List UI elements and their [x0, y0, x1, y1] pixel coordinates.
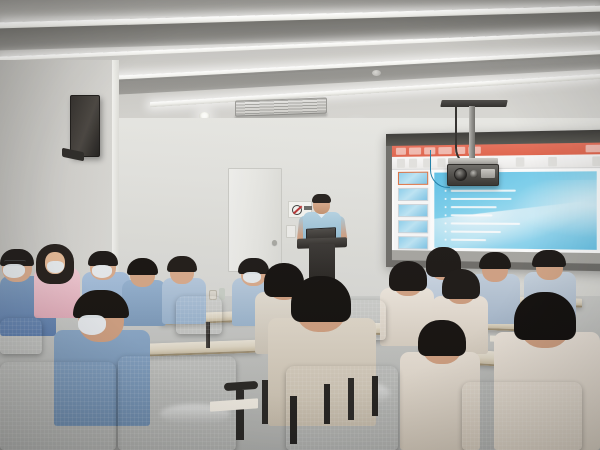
- attendee-mask-1: [3, 264, 25, 278]
- chair-front-1[interactable]: [0, 362, 116, 450]
- chair-front-3[interactable]: [286, 366, 398, 450]
- attendee-mask-13: [78, 315, 106, 335]
- toolbar-button-10[interactable]: [592, 156, 600, 166]
- sign-text-block: [304, 206, 312, 210]
- wall-speaker-icon: [70, 95, 100, 157]
- slide-bullet-dot-1: [445, 190, 447, 192]
- toolbar-button-1[interactable]: [397, 159, 405, 168]
- chair-mid-1[interactable]: [176, 296, 222, 334]
- presenter-hair: [312, 194, 331, 203]
- chair-base-6: [372, 376, 378, 416]
- projector-focus-ring-icon: [470, 170, 478, 178]
- toolbar-button-8[interactable]: [516, 157, 525, 166]
- chair-base-1: [236, 390, 244, 440]
- slide-thumbnail-4[interactable]: [398, 220, 428, 233]
- photo-scene: [0, 0, 600, 450]
- slide-thumbnail-1[interactable]: [398, 172, 428, 185]
- ribbon-tab-2[interactable]: [409, 147, 421, 154]
- attendee-hair-11: [389, 261, 427, 291]
- attendee-mask-2: [47, 261, 64, 273]
- slide-bullet-text-3: [451, 206, 497, 209]
- chair-base-3: [262, 380, 268, 424]
- light-switch-panel[interactable]: [286, 225, 296, 238]
- chair-base-4: [324, 384, 330, 424]
- attendee-hair-15: [514, 292, 576, 340]
- door-handle-icon[interactable]: [272, 240, 277, 245]
- attendee-hair-3: [88, 251, 118, 266]
- ribbon-tab-1[interactable]: [396, 148, 406, 155]
- chair-base-2: [290, 396, 297, 444]
- attendee-glasses-1: [4, 260, 26, 264]
- slide-thumbnail-2[interactable]: [398, 188, 428, 201]
- slide-thumbnail-5[interactable]: [398, 236, 428, 249]
- attendee-hair-16: [418, 320, 466, 356]
- chair-front-4[interactable]: [462, 382, 582, 450]
- attendee-hair-14: [291, 276, 351, 322]
- attendee-hair-5: [167, 256, 197, 272]
- toolbar-button-2[interactable]: [409, 159, 417, 168]
- attendee-hair-12: [442, 269, 480, 299]
- attendee-hair-9: [532, 250, 566, 267]
- attendee-hair-8: [479, 252, 511, 269]
- projector-control-panel[interactable]: [481, 169, 495, 178]
- smoke-detector-icon: [372, 70, 381, 76]
- projection-screen: [386, 130, 600, 272]
- projector-lens-icon: [454, 168, 467, 181]
- slide-bullet-dot-3: [445, 206, 447, 208]
- slide-bullet-dot-2: [445, 198, 447, 200]
- toolbar-button-9[interactable]: [548, 157, 557, 167]
- attendee-mask-6: [243, 272, 261, 283]
- door[interactable]: [228, 168, 282, 272]
- slide-thumbnail-3[interactable]: [398, 204, 428, 217]
- chair-mid-3[interactable]: [0, 318, 42, 354]
- ribbon-window-controls[interactable]: [586, 145, 600, 153]
- slide-thumbnail-panel[interactable]: [394, 170, 430, 251]
- attendee-mask-3: [92, 265, 112, 278]
- chair-base-5: [348, 378, 354, 420]
